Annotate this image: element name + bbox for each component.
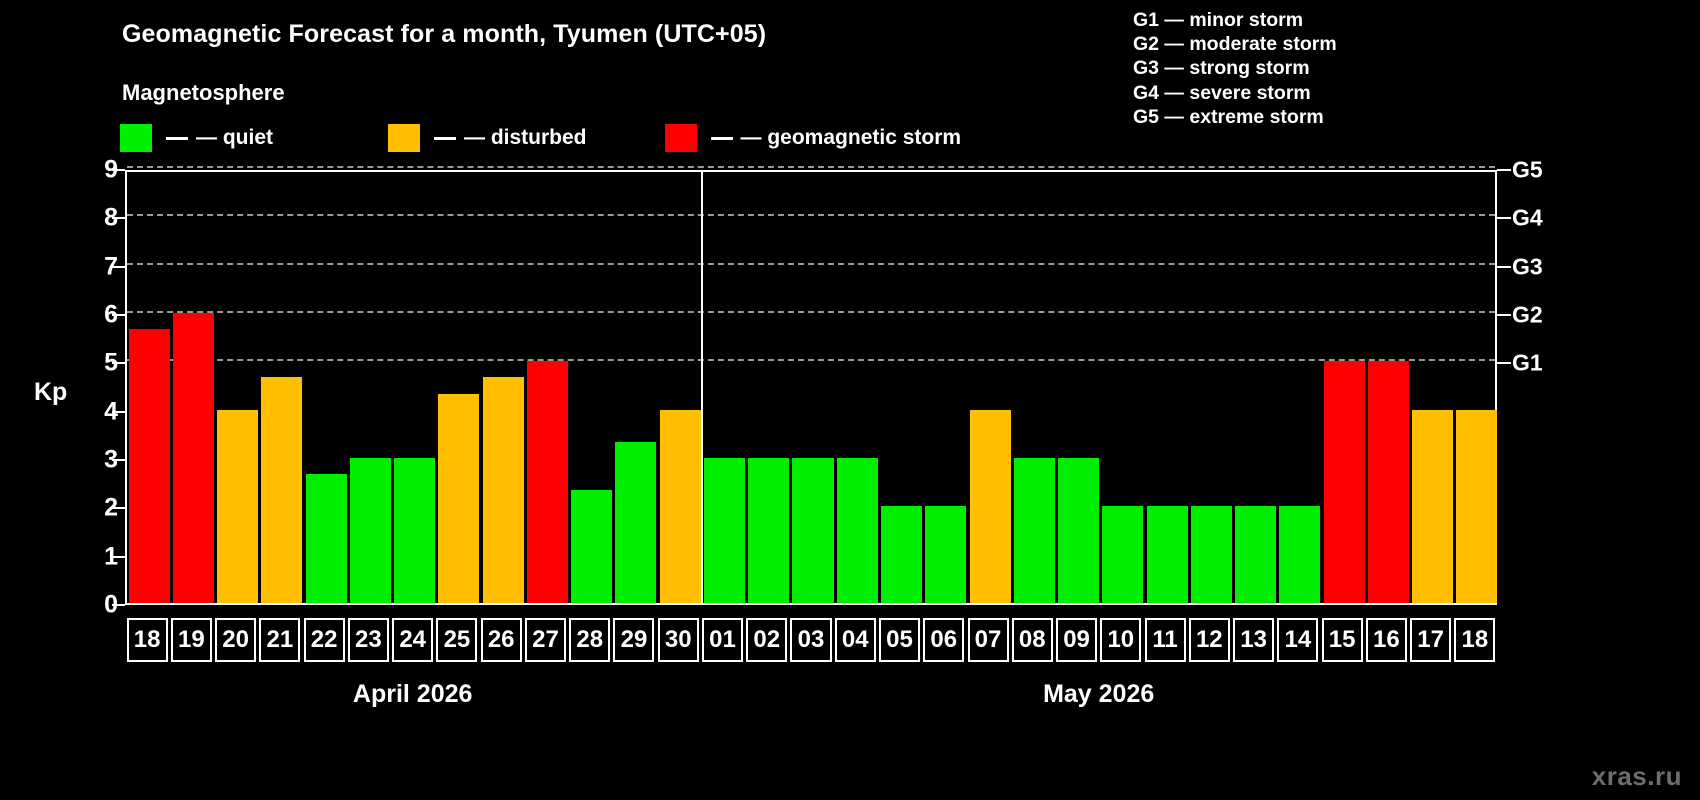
day-label-may-12[interactable]: 12 bbox=[1189, 618, 1230, 662]
bar-fill-quiet bbox=[615, 442, 656, 603]
g-scale-legend: G1 — minor storm G2 — moderate storm G3 … bbox=[1133, 8, 1337, 129]
bar-may-06[interactable] bbox=[925, 168, 966, 603]
g-tick-mark-g3 bbox=[1497, 266, 1511, 268]
day-label-may-13[interactable]: 13 bbox=[1233, 618, 1274, 662]
legend-dash-icon bbox=[434, 137, 456, 140]
y-tick-mark-3 bbox=[112, 459, 125, 461]
page-title: Geomagnetic Forecast for a month, Tyumen… bbox=[122, 20, 766, 49]
day-label-april-18[interactable]: 18 bbox=[127, 618, 168, 662]
day-label-april-27[interactable]: 27 bbox=[525, 618, 566, 662]
g-scale-item-g3: G3 — strong storm bbox=[1133, 56, 1337, 80]
g-tick-label-g4: G4 bbox=[1512, 207, 1543, 230]
bar-may-02[interactable] bbox=[748, 168, 789, 603]
legend-swatch-quiet bbox=[120, 124, 152, 152]
bar-may-18[interactable] bbox=[1456, 168, 1497, 603]
bar-fill-quiet bbox=[394, 458, 435, 603]
bars-layer bbox=[127, 172, 1495, 603]
bar-fill-disturbed bbox=[1456, 410, 1497, 603]
day-label-april-29[interactable]: 29 bbox=[613, 618, 654, 662]
month-label-may: May 2026 bbox=[1043, 680, 1154, 709]
day-label-april-23[interactable]: 23 bbox=[348, 618, 389, 662]
g-tick-mark-g2 bbox=[1497, 314, 1511, 316]
legend-entry-quiet: — quiet bbox=[120, 124, 273, 152]
bar-fill-disturbed bbox=[438, 394, 479, 603]
y-tick-mark-8 bbox=[112, 217, 125, 219]
day-label-may-02[interactable]: 02 bbox=[746, 618, 787, 662]
bar-fill-storm bbox=[129, 329, 170, 603]
y-tick-mark-0 bbox=[112, 604, 125, 606]
g-tick-label-g3: G3 bbox=[1512, 255, 1543, 278]
bar-may-01[interactable] bbox=[704, 168, 745, 603]
bar-april-28[interactable] bbox=[571, 168, 612, 603]
day-label-may-18[interactable]: 18 bbox=[1454, 618, 1495, 662]
bar-may-08[interactable] bbox=[1014, 168, 1055, 603]
g-tick-mark-g1 bbox=[1497, 362, 1511, 364]
bar-may-16[interactable] bbox=[1368, 168, 1409, 603]
day-label-april-24[interactable]: 24 bbox=[392, 618, 433, 662]
day-label-april-19[interactable]: 19 bbox=[171, 618, 212, 662]
month-label-april: April 2026 bbox=[353, 680, 473, 709]
legend-label-storm: — geomagnetic storm bbox=[741, 126, 962, 150]
g-tick-label-g1: G1 bbox=[1512, 352, 1543, 375]
day-label-may-03[interactable]: 03 bbox=[790, 618, 831, 662]
legend-swatch-disturbed bbox=[388, 124, 420, 152]
day-label-april-28[interactable]: 28 bbox=[569, 618, 610, 662]
bar-may-17[interactable] bbox=[1412, 168, 1453, 603]
bar-april-29[interactable] bbox=[615, 168, 656, 603]
g-scale-item-g4: G4 — severe storm bbox=[1133, 81, 1337, 105]
day-label-april-30[interactable]: 30 bbox=[658, 618, 699, 662]
bar-fill-quiet bbox=[1058, 458, 1099, 603]
day-label-may-09[interactable]: 09 bbox=[1056, 618, 1097, 662]
bar-may-04[interactable] bbox=[837, 168, 878, 603]
legend-entry-storm: — geomagnetic storm bbox=[665, 124, 962, 152]
day-label-may-06[interactable]: 06 bbox=[923, 618, 964, 662]
bar-may-03[interactable] bbox=[792, 168, 833, 603]
day-label-may-05[interactable]: 05 bbox=[879, 618, 920, 662]
y-axis-title: Kp bbox=[34, 378, 67, 407]
bar-fill-disturbed bbox=[1412, 410, 1453, 603]
bar-may-15[interactable] bbox=[1324, 168, 1365, 603]
bar-may-07[interactable] bbox=[970, 168, 1011, 603]
bar-april-21[interactable] bbox=[261, 168, 302, 603]
bar-may-14[interactable] bbox=[1279, 168, 1320, 603]
bar-april-25[interactable] bbox=[438, 168, 479, 603]
day-label-may-17[interactable]: 17 bbox=[1410, 618, 1451, 662]
y-tick-mark-9 bbox=[112, 169, 125, 171]
g-tick-mark-g4 bbox=[1497, 217, 1511, 219]
y-tick-mark-7 bbox=[112, 266, 125, 268]
bar-fill-quiet bbox=[1191, 506, 1232, 603]
day-label-may-15[interactable]: 15 bbox=[1322, 618, 1363, 662]
g-tick-label-g5: G5 bbox=[1512, 159, 1543, 182]
day-label-may-10[interactable]: 10 bbox=[1100, 618, 1141, 662]
day-label-april-21[interactable]: 21 bbox=[259, 618, 300, 662]
bar-april-20[interactable] bbox=[217, 168, 258, 603]
bar-fill-quiet bbox=[792, 458, 833, 603]
bar-fill-storm bbox=[527, 361, 568, 603]
bar-fill-quiet bbox=[837, 458, 878, 603]
bar-may-11[interactable] bbox=[1147, 168, 1188, 603]
day-label-may-11[interactable]: 11 bbox=[1145, 618, 1186, 662]
bar-fill-quiet bbox=[1147, 506, 1188, 603]
bar-fill-disturbed bbox=[970, 410, 1011, 603]
bar-fill-quiet bbox=[1102, 506, 1143, 603]
bar-fill-storm bbox=[1324, 361, 1365, 603]
day-label-may-08[interactable]: 08 bbox=[1012, 618, 1053, 662]
legend-label-quiet: — quiet bbox=[196, 126, 273, 150]
bar-fill-storm bbox=[1368, 361, 1409, 603]
bar-fill-quiet bbox=[1235, 506, 1276, 603]
day-label-may-14[interactable]: 14 bbox=[1277, 618, 1318, 662]
bar-may-12[interactable] bbox=[1191, 168, 1232, 603]
day-label-may-01[interactable]: 01 bbox=[702, 618, 743, 662]
g-axis-labels: G1G2G3G4G5 bbox=[1512, 170, 1582, 605]
bar-fill-quiet bbox=[925, 506, 966, 603]
day-label-april-25[interactable]: 25 bbox=[436, 618, 477, 662]
bar-april-22[interactable] bbox=[306, 168, 347, 603]
g-scale-item-g1: G1 — minor storm bbox=[1133, 8, 1337, 32]
y-tick-mark-4 bbox=[112, 411, 125, 413]
bar-april-19[interactable] bbox=[173, 168, 214, 603]
bar-may-13[interactable] bbox=[1235, 168, 1276, 603]
bar-fill-quiet bbox=[306, 474, 347, 603]
bar-april-23[interactable] bbox=[350, 168, 391, 603]
bar-fill-storm bbox=[173, 313, 214, 603]
legend-entry-disturbed: — disturbed bbox=[388, 124, 587, 152]
bar-may-10[interactable] bbox=[1102, 168, 1143, 603]
day-label-may-16[interactable]: 16 bbox=[1366, 618, 1407, 662]
y-tick-mark-5 bbox=[112, 362, 125, 364]
bar-fill-quiet bbox=[748, 458, 789, 603]
bar-april-30[interactable] bbox=[660, 168, 701, 603]
legend-dash-icon bbox=[166, 137, 188, 140]
g-tick-label-g2: G2 bbox=[1512, 304, 1543, 327]
bar-fill-quiet bbox=[881, 506, 922, 603]
x-axis-day-labels: 1819202122232425262728293001020304050607… bbox=[125, 618, 1497, 662]
bar-fill-disturbed bbox=[483, 377, 524, 603]
magnetosphere-legend: — quiet — disturbed — geomagnetic storm bbox=[120, 124, 961, 152]
legend-label-disturbed: — disturbed bbox=[464, 126, 587, 150]
y-tick-mark-6 bbox=[112, 314, 125, 316]
bar-fill-quiet bbox=[571, 490, 612, 603]
legend-swatch-storm bbox=[665, 124, 697, 152]
bar-april-18[interactable] bbox=[129, 168, 170, 603]
y-tick-mark-1 bbox=[112, 556, 125, 558]
g-scale-item-g5: G5 — extreme storm bbox=[1133, 105, 1337, 129]
bar-fill-disturbed bbox=[217, 410, 258, 603]
y-tick-mark-2 bbox=[112, 507, 125, 509]
bar-fill-disturbed bbox=[660, 410, 701, 603]
bar-april-27[interactable] bbox=[527, 168, 568, 603]
bar-fill-quiet bbox=[1014, 458, 1055, 603]
g-tick-mark-g5 bbox=[1497, 169, 1511, 171]
day-label-april-22[interactable]: 22 bbox=[304, 618, 345, 662]
bar-fill-quiet bbox=[1279, 506, 1320, 603]
bar-fill-quiet bbox=[350, 458, 391, 603]
legend-dash-icon bbox=[711, 137, 733, 140]
bar-april-24[interactable] bbox=[394, 168, 435, 603]
y-axis-labels: 0123456789 bbox=[78, 170, 118, 605]
watermark: xras.ru bbox=[1592, 761, 1682, 792]
day-label-may-04[interactable]: 04 bbox=[835, 618, 876, 662]
day-label-may-07[interactable]: 07 bbox=[968, 618, 1009, 662]
magnetosphere-heading: Magnetosphere bbox=[122, 80, 285, 106]
plot-area bbox=[125, 170, 1497, 605]
bar-fill-disturbed bbox=[261, 377, 302, 603]
bar-april-26[interactable] bbox=[483, 168, 524, 603]
bar-may-09[interactable] bbox=[1058, 168, 1099, 603]
bar-fill-quiet bbox=[704, 458, 745, 603]
bar-may-05[interactable] bbox=[881, 168, 922, 603]
day-label-april-20[interactable]: 20 bbox=[215, 618, 256, 662]
day-label-april-26[interactable]: 26 bbox=[481, 618, 522, 662]
g-scale-item-g2: G2 — moderate storm bbox=[1133, 32, 1337, 56]
